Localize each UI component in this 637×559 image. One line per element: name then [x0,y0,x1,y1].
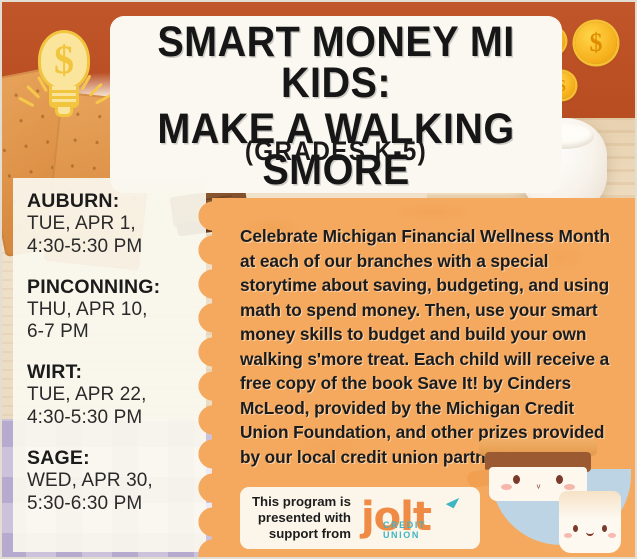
schedule-item: WIRT: TUE, APR 22, 4:30-5:30 PM [27,361,196,430]
sponsor-box: This program is presented with support f… [240,487,480,549]
schedule-date: TUE, APR 22, [27,384,196,407]
description-text: Celebrate Michigan Financial Wellness Mo… [212,198,637,469]
arrow-icon [446,494,460,509]
sponsor-label: This program is presented with support f… [252,494,351,542]
schedule-item: AUBURN: TUE, APR 1, 4:30-5:30 PM [27,190,196,259]
schedule-location: AUBURN: [27,190,196,213]
coin-icon: $ [575,22,617,64]
schedule-location: SAGE: [27,447,196,470]
jolt-tagline: CREDIT UNION [383,520,463,540]
marshmallow-character-icon [559,491,621,553]
schedule-time: 4:30-5:30 PM [27,236,196,259]
schedule-location: WIRT: [27,361,196,384]
schedule-panel: AUBURN: TUE, APR 1, 4:30-5:30 PM PINCONN… [13,178,206,552]
smore-mouth-glyph: ᵥ [534,482,543,488]
flyer-canvas: $ $ $ $ SMART MONEY MI KIDS: MAKE A WALK… [0,0,637,559]
schedule-date: TUE, APR 1, [27,213,196,236]
dollar-sign-glyph: $ [38,30,90,90]
lightbulb-icon: $ [18,8,110,130]
schedule-time: 6-7 PM [27,321,196,344]
schedule-item: SAGE: WED, APR 30, 5:30-6:30 PM [27,447,196,516]
schedule-time: 4:30-5:30 PM [27,407,196,430]
schedule-date: THU, APR 10, [27,299,196,322]
page-subtitle: (GRADES K-5) [133,136,540,167]
page-title-line1: SMART MONEY MI KIDS: [141,22,531,105]
jolt-credit-union-logo: jolt CREDIT UNION [359,495,463,541]
schedule-date: WED, APR 30, [27,470,196,493]
schedule-time: 5:30-6:30 PM [27,493,196,516]
schedule-item: PINCONNING: THU, APR 10, 6-7 PM [27,276,196,345]
coin-symbol: $ [575,22,617,64]
schedule-location: PINCONNING: [27,276,196,299]
